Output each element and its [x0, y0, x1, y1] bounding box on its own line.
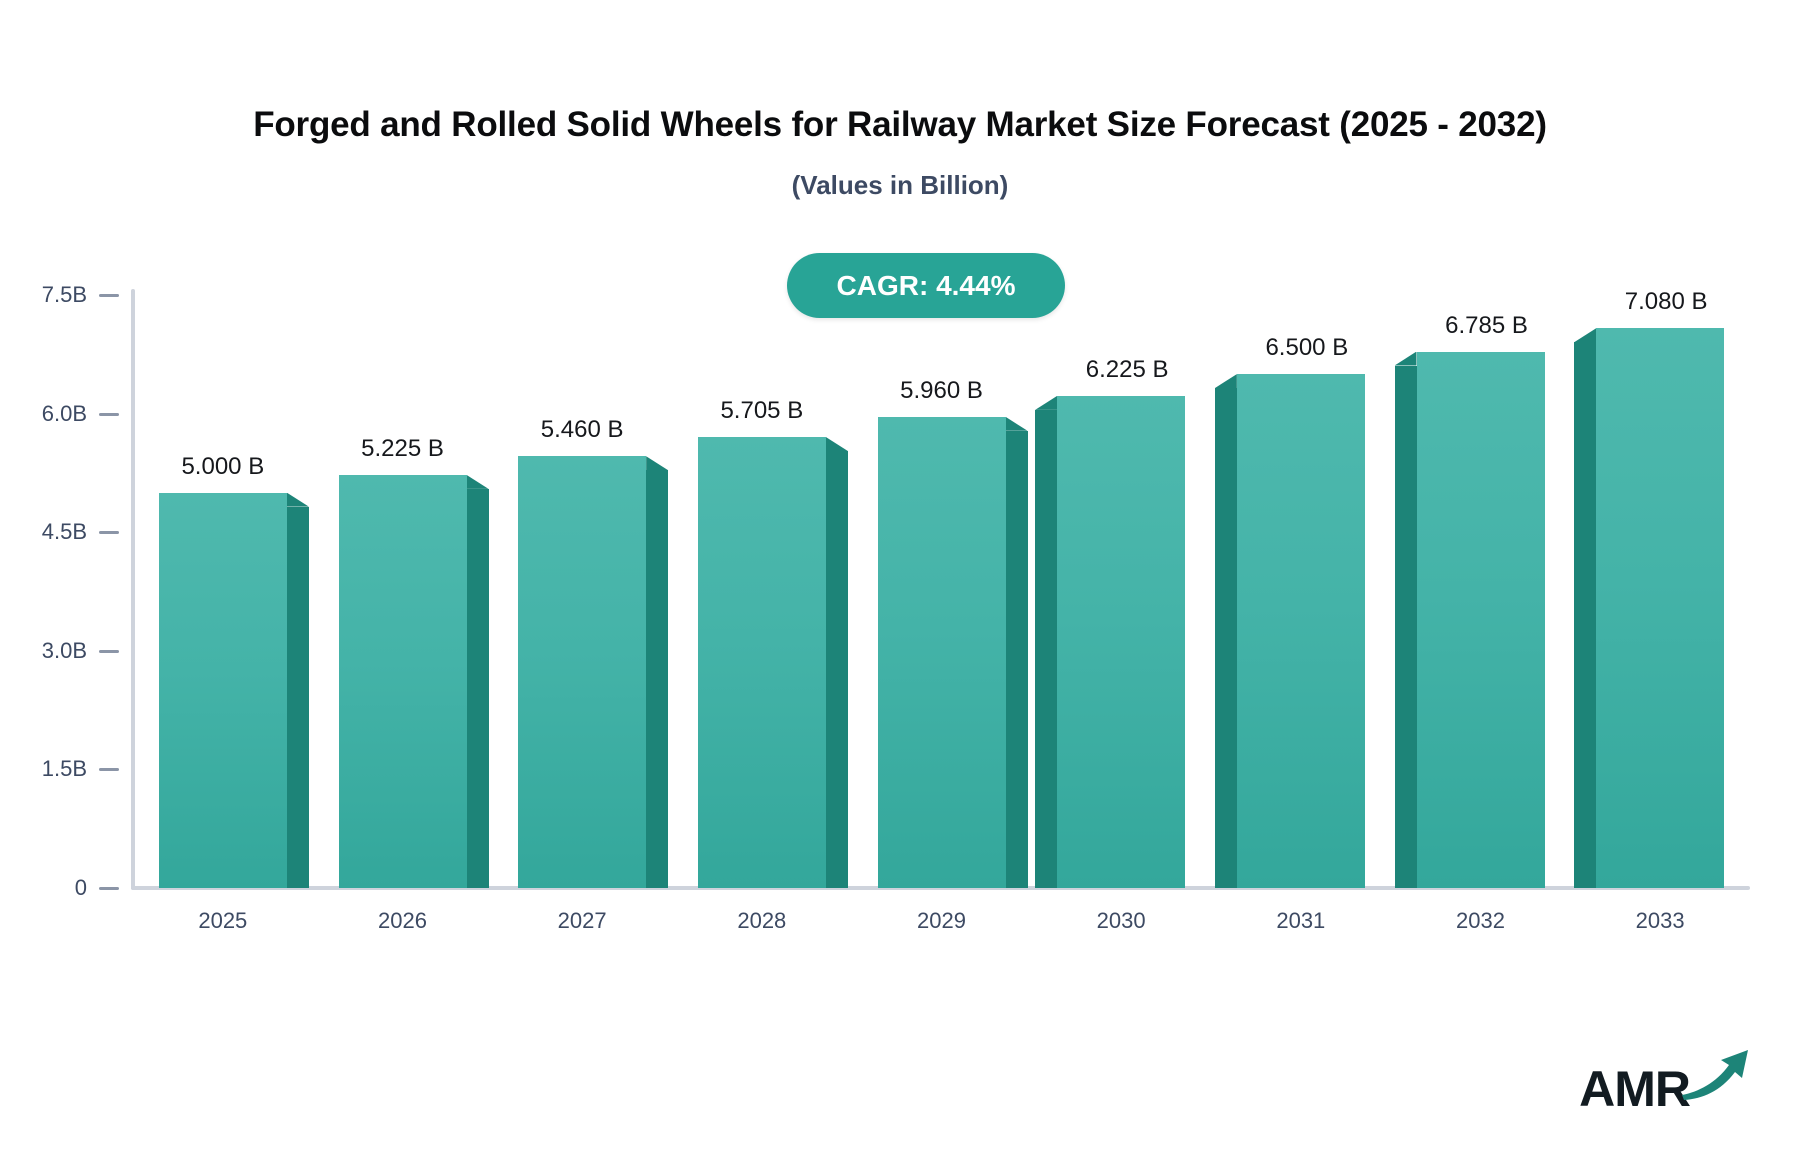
bar-front-face — [698, 437, 826, 888]
y-axis-line — [131, 289, 135, 890]
bar-side-face — [1215, 388, 1237, 888]
bar-front-face — [159, 493, 287, 888]
x-axis-label-2025: 2025 — [198, 908, 247, 934]
bar-front-face — [1057, 396, 1185, 888]
y-axis-tick: 4.5B — [0, 519, 133, 545]
bar-top-cap — [646, 456, 668, 470]
y-axis-tick-mark — [99, 294, 119, 297]
x-axis-label-2031: 2031 — [1276, 908, 1325, 934]
bar-front-face — [339, 475, 467, 888]
y-axis-tick-mark — [99, 650, 119, 653]
y-axis-tick: 7.5B — [0, 282, 133, 308]
bar-top-cap — [1035, 396, 1057, 410]
y-axis-tick-label: 4.5B — [42, 519, 87, 545]
y-axis-tick-label: 0 — [75, 875, 87, 901]
x-axis-label-2026: 2026 — [378, 908, 427, 934]
bar-side-face — [467, 489, 489, 888]
bar-top-cap — [826, 437, 848, 451]
y-axis-tick-label: 3.0B — [42, 638, 87, 664]
y-axis-tick-mark — [99, 768, 119, 771]
bar-2027[interactable]: 5.460 B — [518, 456, 646, 888]
bar-front-face — [1417, 352, 1545, 888]
amr-logo: AMR — [1579, 1045, 1752, 1114]
x-axis-label-2029: 2029 — [917, 908, 966, 934]
bar-2025[interactable]: 5.000 B — [159, 493, 287, 888]
y-axis-tick-mark — [99, 887, 119, 890]
bar-value-label: 6.225 B — [1086, 356, 1169, 384]
bar-front-face — [878, 417, 1006, 888]
y-axis-tick-label: 1.5B — [42, 756, 87, 782]
x-axis-label-2028: 2028 — [737, 908, 786, 934]
bar-top-cap — [287, 493, 309, 507]
bar-2033[interactable]: 7.080 B — [1596, 328, 1724, 888]
bar-value-label: 5.460 B — [541, 416, 624, 444]
x-axis-label-2032: 2032 — [1456, 908, 1505, 934]
bar-value-label: 6.500 B — [1265, 334, 1348, 362]
bar-value-label: 5.000 B — [181, 453, 264, 481]
bar-front-face — [1237, 374, 1365, 888]
bar-value-label: 5.225 B — [361, 435, 444, 463]
bar-value-label: 5.705 B — [720, 397, 803, 425]
bar-side-face — [1574, 342, 1596, 888]
y-axis-tick: 1.5B — [0, 756, 133, 782]
bar-front-face — [1596, 328, 1724, 888]
bar-2026[interactable]: 5.225 B — [339, 475, 467, 888]
y-axis-tick: 6.0B — [0, 401, 133, 427]
chart-canvas: Forged and Rolled Solid Wheels for Railw… — [0, 0, 1800, 1156]
y-axis-tick-label: 7.5B — [42, 282, 87, 308]
bar-top-cap — [467, 475, 489, 489]
bar-front-face — [518, 456, 646, 888]
y-axis-tick: 0 — [0, 875, 133, 901]
y-axis-tick-mark — [99, 531, 119, 534]
bar-top-cap — [1215, 374, 1237, 388]
bar-value-label: 6.785 B — [1445, 312, 1528, 340]
bar-side-face — [1006, 431, 1028, 888]
bar-2031[interactable]: 6.500 B — [1237, 374, 1365, 888]
bar-2032[interactable]: 6.785 B — [1417, 352, 1545, 888]
y-axis-tick-mark — [99, 413, 119, 416]
y-axis-tick: 3.0B — [0, 638, 133, 664]
x-axis-label-2030: 2030 — [1097, 908, 1146, 934]
bar-side-face — [287, 507, 309, 888]
bar-top-cap — [1395, 352, 1417, 366]
bar-side-face — [646, 470, 668, 888]
x-axis-label-2027: 2027 — [558, 908, 607, 934]
bar-side-face — [1035, 410, 1057, 888]
rising-arrow-icon — [1680, 1045, 1752, 1106]
bar-top-cap — [1006, 417, 1028, 431]
bar-side-face — [826, 451, 848, 888]
x-axis-label-2033: 2033 — [1636, 908, 1685, 934]
bar-2028[interactable]: 5.705 B — [698, 437, 826, 888]
bar-2029[interactable]: 5.960 B — [878, 417, 1006, 888]
bar-value-label: 7.080 B — [1625, 288, 1708, 316]
bar-value-label: 5.960 B — [900, 377, 983, 405]
amr-logo-text: AMR — [1579, 1064, 1690, 1114]
plot-area: 7.5B6.0B4.5B3.0B1.5B0 5.000 B5.225 B5.46… — [0, 0, 1800, 1000]
y-axis-tick-label: 6.0B — [42, 401, 87, 427]
bar-top-cap — [1574, 328, 1596, 342]
bar-2030[interactable]: 6.225 B — [1057, 396, 1185, 888]
bar-side-face — [1395, 366, 1417, 888]
